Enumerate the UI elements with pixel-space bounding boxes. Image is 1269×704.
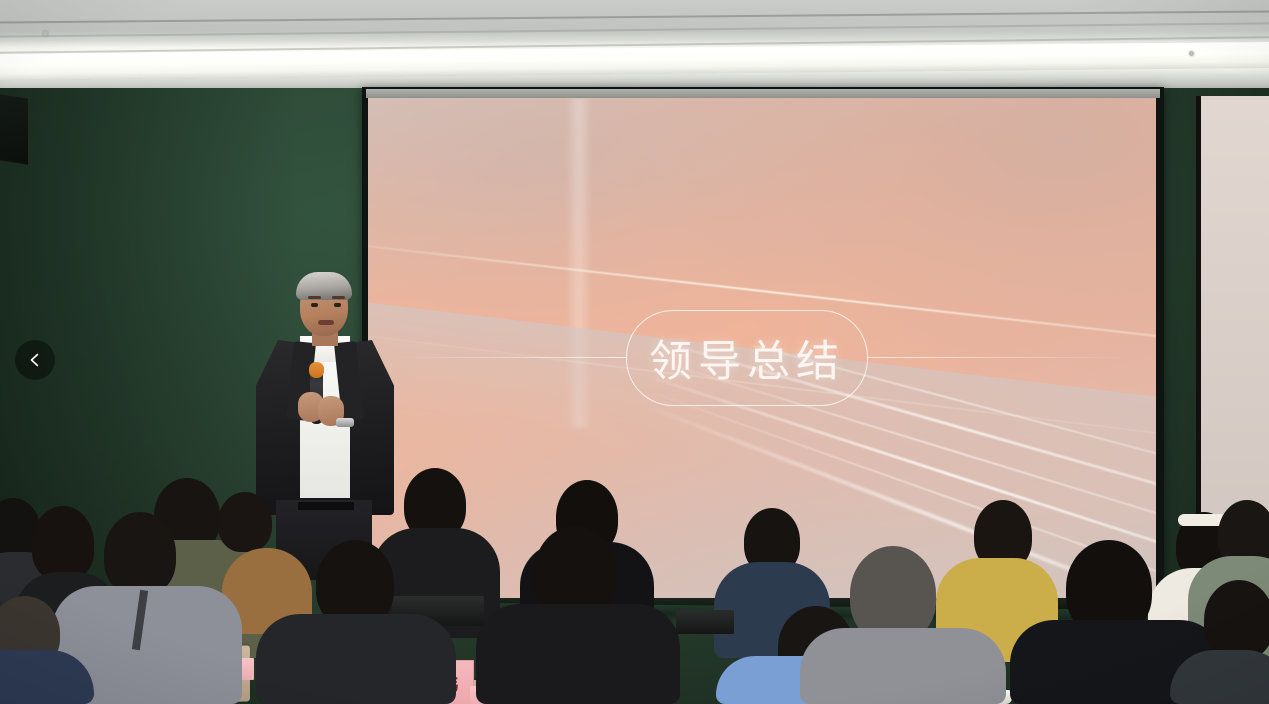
presenter	[248, 270, 398, 580]
slide-title-group: 领导总结	[368, 310, 1156, 406]
presenter-watch	[336, 418, 354, 427]
ceiling-screw	[43, 31, 48, 36]
ceiling-screw	[1189, 51, 1194, 56]
wall-speaker	[0, 93, 28, 164]
ceiling-seam	[0, 22, 1269, 37]
chevron-left-icon	[27, 352, 43, 368]
presenter-eye	[311, 303, 318, 307]
projected-slide: 领导总结	[368, 98, 1156, 606]
presenter-trousers	[276, 500, 372, 580]
back-button[interactable]	[15, 340, 55, 380]
presenter-eye	[334, 303, 341, 307]
presenter-eyebrow	[332, 296, 345, 299]
ceiling-seam	[0, 10, 1269, 23]
slide-rule-right	[868, 357, 1130, 358]
screenshot-root: 领导总结	[0, 0, 1269, 704]
presenter-belt	[298, 502, 354, 510]
slide-title-pill: 领导总结	[626, 310, 868, 406]
slide-title-text: 领导总结	[649, 327, 845, 389]
presenter-mouth	[318, 320, 334, 325]
slide-rule-left	[394, 357, 626, 358]
secondary-whiteboard-surface	[1201, 100, 1269, 605]
projection-screen-top-bar	[366, 89, 1160, 98]
presenter-eyebrow	[308, 296, 321, 299]
microphone-head	[309, 362, 324, 378]
